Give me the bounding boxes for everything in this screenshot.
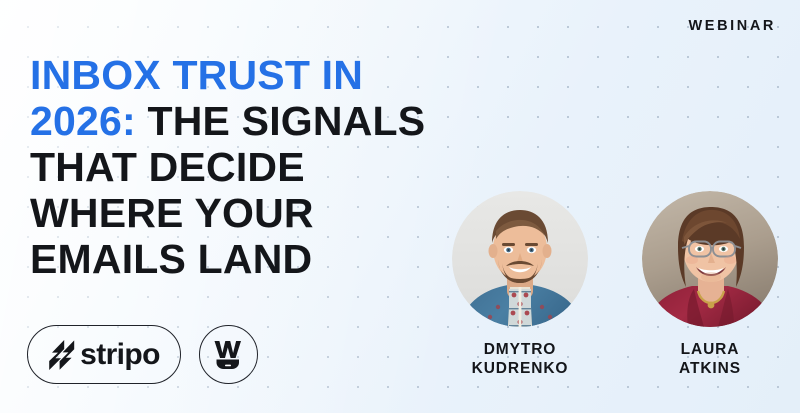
- speaker-photo-laura-atkins: [642, 191, 778, 327]
- headline-line-4: WHERE YOUR: [30, 190, 460, 236]
- logo-row: stripo: [27, 325, 258, 384]
- headline-line-1: INBOX TRUST IN: [30, 52, 460, 98]
- avatar: [452, 191, 588, 327]
- stripo-lightning-s-icon: [48, 340, 75, 370]
- headline-line-2: 2026: THE SIGNALS: [30, 98, 460, 144]
- headline-line-3: THAT DECIDE: [30, 144, 460, 190]
- word-to-the-wise-logo-badge[interactable]: [199, 325, 258, 384]
- w-cup-icon: [212, 339, 245, 370]
- speaker-card: LAURA ATKINS: [630, 191, 790, 378]
- speaker-card: DMYTRO KUDRENKO: [440, 191, 600, 378]
- speaker-name: LAURA ATKINS: [679, 340, 741, 378]
- eyebrow-label: WEBINAR: [689, 18, 776, 34]
- headline-year: 2026:: [30, 98, 136, 144]
- avatar: [642, 191, 778, 327]
- page-title: INBOX TRUST IN 2026: THE SIGNALS THAT DE…: [30, 52, 460, 282]
- stripo-wordmark: stripo: [80, 340, 160, 370]
- stripo-logo-badge[interactable]: stripo: [27, 325, 181, 384]
- speaker-photo-dmytro-kudrenko: [452, 191, 588, 327]
- headline-line-5: EMAILS LAND: [30, 236, 460, 282]
- headline-line-2-rest: THE SIGNALS: [147, 98, 425, 144]
- speaker-list: DMYTRO KUDRENKO: [440, 191, 790, 378]
- webinar-banner: WEBINAR INBOX TRUST IN 2026: THE SIGNALS…: [0, 0, 800, 413]
- speaker-name: DMYTRO KUDRENKO: [472, 340, 569, 378]
